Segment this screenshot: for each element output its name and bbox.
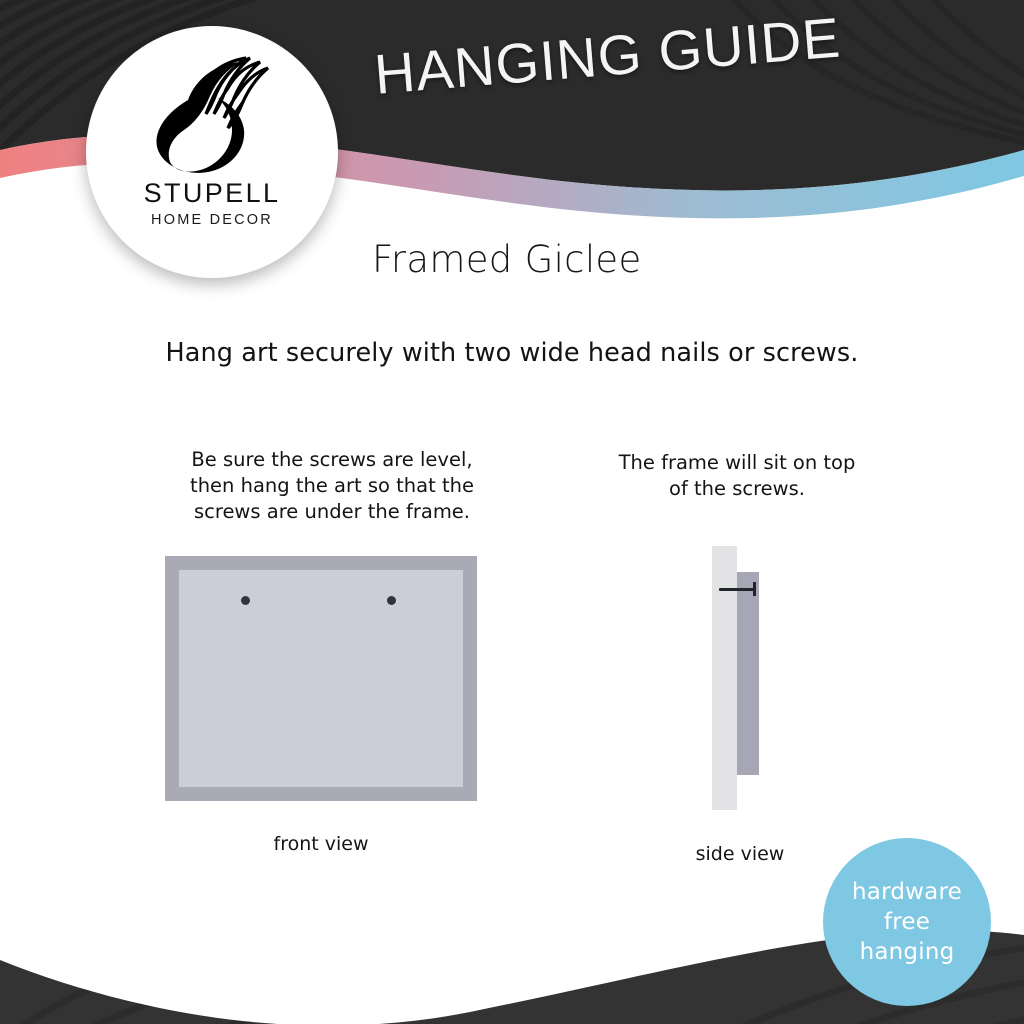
- brand-logo-badge: STUPELL HOME DECOR: [86, 26, 338, 278]
- screw-dot-left-icon: [241, 596, 250, 605]
- nail-head-icon: [753, 582, 756, 596]
- front-view-mat: [179, 570, 463, 787]
- side-view-wall: [712, 546, 737, 810]
- front-view-caption-line-2: then hang the art so that the: [158, 473, 506, 499]
- product-name: Framed Giclee: [372, 238, 642, 281]
- badge-line-1: hardware: [852, 877, 962, 907]
- side-view-frame: [737, 572, 759, 775]
- front-view-caption-line-3: screws are under the frame.: [158, 499, 506, 525]
- hardware-free-hanging-badge: hardware free hanging: [823, 838, 991, 1006]
- page-title: HANGING GUIDE: [372, 5, 843, 107]
- hanging-guide-page: STUPELL HOME DECOR HANGING GUIDE Framed …: [0, 0, 1024, 1024]
- stupell-swoosh-logo-icon: [152, 56, 272, 174]
- side-view-label: side view: [660, 843, 820, 865]
- badge-line-2: free: [884, 907, 930, 937]
- brand-tagline: HOME DECOR: [151, 212, 273, 228]
- side-view-caption: The frame will sit on top of the screws.: [592, 450, 882, 502]
- instruction-lede: Hang art securely with two wide head nai…: [0, 338, 1024, 368]
- front-view-caption-line-1: Be sure the screws are level,: [158, 447, 506, 473]
- side-view-caption-line-1: The frame will sit on top: [592, 450, 882, 476]
- front-view-label: front view: [165, 833, 477, 855]
- screw-dot-right-icon: [387, 596, 396, 605]
- nail-shaft-icon: [719, 588, 755, 591]
- front-view-frame-diagram: [165, 556, 477, 801]
- front-view-caption: Be sure the screws are level, then hang …: [158, 447, 506, 525]
- brand-name: STUPELL: [144, 178, 281, 209]
- badge-line-3: hanging: [860, 937, 955, 967]
- side-view-caption-line-2: of the screws.: [592, 476, 882, 502]
